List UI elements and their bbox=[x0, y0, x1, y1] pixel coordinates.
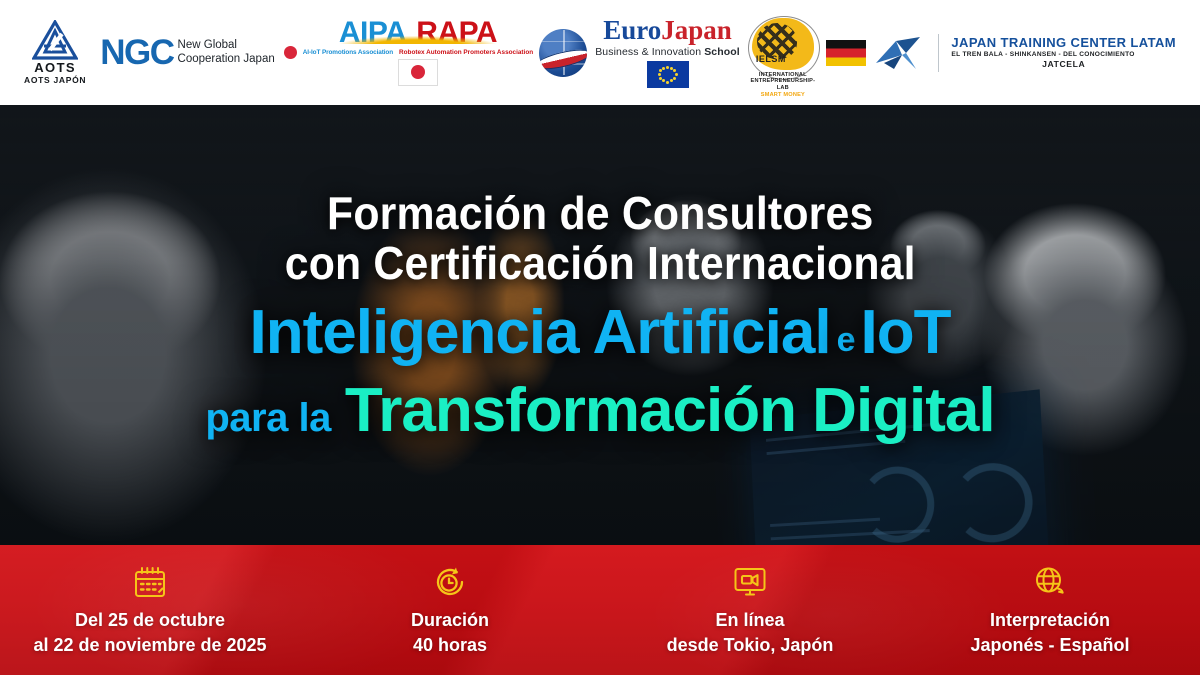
eurojapan-euro: Euro bbox=[603, 15, 661, 45]
rapa-caption: Robotex Automation Promoters Association bbox=[399, 49, 533, 56]
topic-iot: IoT bbox=[861, 298, 951, 367]
logo-eurojapan: EuroJapan Business & Innovation School bbox=[539, 17, 740, 88]
jatcela-line2: EL TREN BALA - SHINKANSEN - DEL CONOCIMI… bbox=[951, 51, 1176, 58]
ngc-wordmark-icon: NGC bbox=[100, 35, 173, 70]
duration-line-2: 40 horas bbox=[411, 633, 489, 657]
european-union-flag-icon bbox=[647, 61, 689, 88]
logo-aots: AOTS AOTS JAPÓN NGC New Global Cooperati… bbox=[24, 20, 297, 86]
aots-subtitle: AOTS JAPÓN bbox=[24, 75, 86, 85]
globe-icon bbox=[539, 29, 587, 77]
interpretation-line-1: Interpretación bbox=[970, 608, 1129, 632]
duration-line-1: Duración bbox=[411, 608, 489, 632]
japan-flag-icon bbox=[398, 59, 438, 86]
topic-line-2: para laTransformación Digital bbox=[205, 380, 994, 442]
eurojapan-sub-light: Business & Innovation bbox=[595, 46, 704, 58]
eurojapan-sub-bold: School bbox=[704, 46, 740, 58]
hero-section: Formación de Consultores con Certificaci… bbox=[0, 105, 1200, 545]
monitor-video-icon bbox=[733, 565, 767, 599]
topic-conjunction: e bbox=[837, 321, 855, 359]
detail-duration: Duración 40 horas bbox=[300, 563, 600, 657]
event-details-bar: Del 25 de octubre al 22 de noviembre de … bbox=[0, 545, 1200, 675]
origami-crane-icon bbox=[872, 33, 928, 73]
logo-jatcela: JAPAN TRAINING CENTER LATAM EL TREN BALA… bbox=[872, 33, 1176, 73]
eurojapan-japan: Japan bbox=[661, 15, 732, 45]
topic-line-1: Inteligencia ArtificialeIoT bbox=[250, 302, 951, 364]
clock-arrow-icon bbox=[433, 565, 467, 599]
modality-line-2: desde Tokio, Japón bbox=[667, 633, 834, 657]
logo-ngc: NGC New Global Cooperation Japan bbox=[100, 35, 296, 70]
ielsm-cap3: SMART MONEY bbox=[761, 92, 805, 98]
dates-line-2: al 22 de noviembre de 2025 bbox=[33, 633, 266, 657]
jatcela-line1: JAPAN TRAINING CENTER LATAM bbox=[951, 36, 1176, 50]
ngc-line1: New Global bbox=[178, 38, 275, 52]
topic-transformation: Transformación Digital bbox=[345, 376, 995, 445]
brain-head-icon: IELSM INTERNATIONAL ENTREPRENEURSHIP-LAB… bbox=[746, 16, 820, 90]
globe-speech-icon bbox=[1033, 565, 1067, 599]
jatcela-line3: JATCELA bbox=[951, 59, 1176, 69]
detail-interpretation: Interpretación Japonés - Español bbox=[900, 563, 1200, 657]
ielsm-cap2: ENTREPRENEURSHIP-LAB bbox=[751, 78, 816, 91]
dates-line-1: Del 25 de octubre bbox=[33, 608, 266, 632]
ielsm-acronym: IELSM bbox=[756, 54, 786, 64]
logo-aipa-rapa: AIPA RAPA AI-IoT Promotions Association … bbox=[303, 19, 533, 86]
promotional-banner: AOTS AOTS JAPÓN NGC New Global Cooperati… bbox=[0, 0, 1200, 675]
logo-ielsm: IELSM INTERNATIONAL ENTREPRENEURSHIP-LAB… bbox=[746, 16, 866, 90]
aots-name: AOTS bbox=[34, 61, 76, 75]
sponsor-logo-strip: AOTS AOTS JAPÓN NGC New Global Cooperati… bbox=[0, 0, 1200, 105]
topic-prefix: para la bbox=[205, 396, 330, 440]
modality-line-1: En línea bbox=[667, 608, 834, 632]
japan-flag-icon bbox=[284, 46, 297, 59]
ielsm-cap1: INTERNATIONAL bbox=[759, 72, 807, 78]
detail-dates: Del 25 de octubre al 22 de noviembre de … bbox=[0, 563, 300, 657]
headline-line-1: Formación de Consultores bbox=[285, 189, 916, 239]
aots-triangle-icon bbox=[32, 20, 78, 60]
topic-ai: Inteligencia Artificial bbox=[250, 298, 831, 367]
page-title: Formación de Consultores con Certificaci… bbox=[285, 189, 916, 288]
calendar-icon bbox=[133, 565, 167, 599]
aipa-caption: AI-IoT Promotions Association bbox=[303, 49, 393, 56]
germany-flag-icon bbox=[826, 40, 866, 66]
ngc-line2: Cooperation Japan bbox=[178, 52, 275, 66]
detail-modality: En línea desde Tokio, Japón bbox=[600, 563, 900, 657]
swoosh-icon bbox=[339, 36, 497, 44]
headline-line-2: con Certificación Internacional bbox=[285, 239, 916, 289]
interpretation-line-2: Japonés - Español bbox=[970, 633, 1129, 657]
